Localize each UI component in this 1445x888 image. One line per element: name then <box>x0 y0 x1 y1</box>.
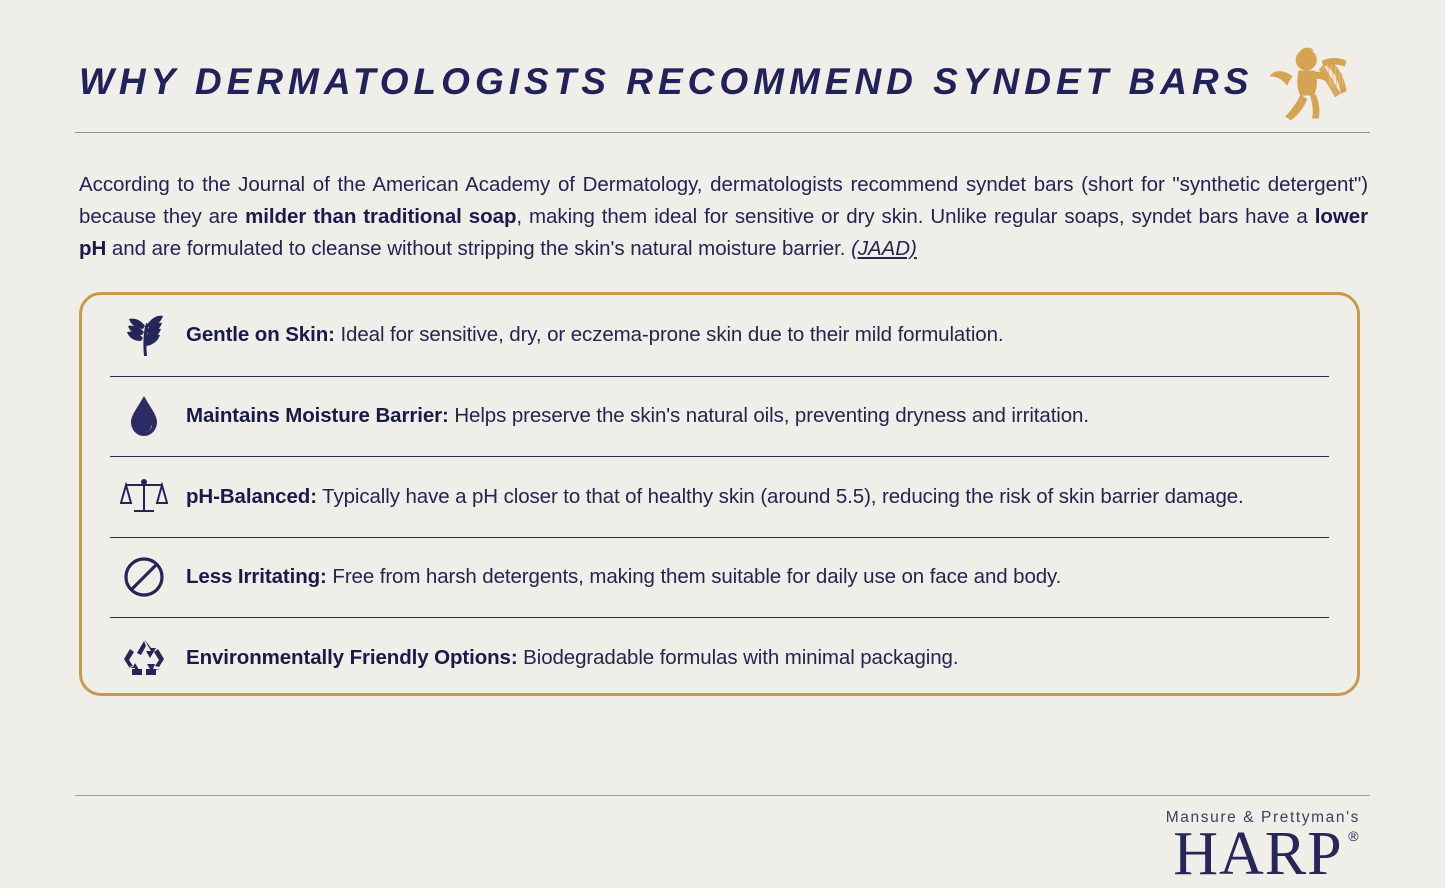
benefit-label: Maintains Moisture Barrier: <box>186 404 449 427</box>
benefit-label: Gentle on Skin: <box>186 323 335 346</box>
benefit-row-ph-balanced: pH-Balanced: Typically have a pH closer … <box>110 456 1329 537</box>
benefit-label: pH-Balanced: <box>186 485 317 508</box>
recycling-icon <box>112 635 176 681</box>
benefit-text: Less Irritating: Free from harsh deterge… <box>186 563 1061 591</box>
benefit-row-less-irritating: Less Irritating: Free from harsh deterge… <box>110 537 1329 618</box>
benefit-text: pH-Balanced: Typically have a pH closer … <box>186 483 1244 511</box>
intro-paragraph: According to the Journal of the American… <box>75 133 1370 265</box>
benefit-row-environmentally-friendly: Environmentally Friendly Options: Biodeg… <box>110 617 1329 698</box>
benefit-text: Maintains Moisture Barrier: Helps preser… <box>186 402 1089 430</box>
benefit-description: Typically have a pH closer to that of he… <box>317 485 1244 508</box>
benefits-card: Gentle on Skin: Ideal for sensitive, dry… <box>79 292 1360 696</box>
benefit-description: Ideal for sensitive, dry, or eczema-pron… <box>335 323 1004 346</box>
footer-divider <box>75 795 1370 796</box>
page-title: WHY DERMATOLOGISTS RECOMMEND SYNDET BARS <box>75 62 1253 103</box>
benefit-text: Gentle on Skin: Ideal for sensitive, dry… <box>186 321 1003 349</box>
benefit-row-maintains-moisture-barrier: Maintains Moisture Barrier: Helps preser… <box>110 376 1329 457</box>
benefit-description: Free from harsh detergents, making them … <box>327 565 1061 588</box>
benefit-row-gentle-on-skin: Gentle on Skin: Ideal for sensitive, dry… <box>110 295 1329 376</box>
benefit-label: Environmentally Friendly Options: <box>186 646 518 669</box>
benefit-text: Environmentally Friendly Options: Biodeg… <box>186 644 958 672</box>
leaf-icon <box>112 312 176 358</box>
water-drop-icon <box>112 393 176 439</box>
benefit-label: Less Irritating: <box>186 565 327 588</box>
registered-trademark-symbol: ® <box>1348 829 1358 843</box>
prohibition-icon <box>112 554 176 600</box>
benefit-description: Helps preserve the skin's natural oils, … <box>449 404 1089 427</box>
footer: Mansure & Prettyman's HARP® <box>75 795 1370 796</box>
intro-text-3: and are formulated to cleanse without st… <box>106 237 851 260</box>
harp-brand-logo: Mansure & Prettyman's HARP® <box>1166 809 1366 885</box>
header: WHY DERMATOLOGISTS RECOMMEND SYNDET BARS <box>75 0 1370 130</box>
brand-wordmark-text: HARP <box>1173 820 1342 888</box>
infographic-page: WHY DERMATOLOGISTS RECOMMEND SYNDET BARS <box>0 0 1445 814</box>
benefit-description: Biodegradable formulas with minimal pack… <box>518 646 959 669</box>
intro-bold-1: milder than traditional soap <box>245 205 516 228</box>
intro-text-2: , making them ideal for sensitive or dry… <box>516 205 1314 228</box>
jaad-citation-link[interactable]: (JAAD) <box>851 237 917 260</box>
cherub-with-harp-icon <box>1264 34 1360 130</box>
balance-scale-icon <box>112 474 176 520</box>
brand-wordmark: HARP® <box>1173 823 1358 885</box>
